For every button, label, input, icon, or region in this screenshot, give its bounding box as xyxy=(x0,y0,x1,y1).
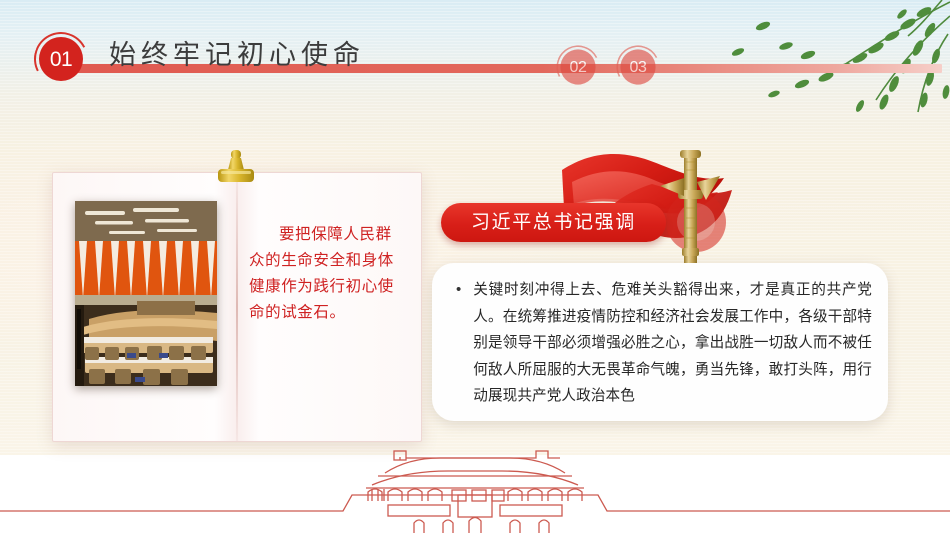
presentation-slide: 01 02 03 始终牢记初心使命 xyxy=(0,0,950,535)
open-book: 要把保障人民群众的生命安全和身体健康作为践行初心使命的试金石。 xyxy=(52,172,422,442)
badge-disc: 02 xyxy=(560,49,595,84)
badge-disc: 01 xyxy=(39,37,83,81)
step-badge-03[interactable]: 03 xyxy=(616,45,659,88)
bullet-list: • 关键时刻冲得上去、危难关头豁得出来，才是真正的共产党人。在统筹推进疫情防控和… xyxy=(454,277,872,410)
conference-hall-photo xyxy=(75,201,217,386)
body-paragraph: 关键时刻冲得上去、危难关头豁得出来，才是真正的共产党人。在统筹推进疫情防控和经济… xyxy=(473,277,872,410)
content-card: • 关键时刻冲得上去、危难关头豁得出来，才是真正的共产党人。在统筹推进疫情防控和… xyxy=(432,263,888,421)
badge-disc: 03 xyxy=(620,49,655,84)
book-spine xyxy=(236,173,238,441)
step-badge-01[interactable]: 01 xyxy=(34,32,88,86)
book-quote: 要把保障人民群众的生命安全和身体健康作为践行初心使命的试金石。 xyxy=(249,221,405,325)
speaker-banner: 习近平总书记强调 xyxy=(441,203,666,242)
badge-number: 03 xyxy=(630,59,647,75)
page-title: 始终牢记初心使命 xyxy=(109,33,365,72)
badge-number: 02 xyxy=(570,59,587,75)
badge-number: 01 xyxy=(50,49,72,70)
step-badge-02[interactable]: 02 xyxy=(556,45,599,88)
bottom-white-band xyxy=(0,455,950,535)
bullet-marker: • xyxy=(454,277,461,410)
